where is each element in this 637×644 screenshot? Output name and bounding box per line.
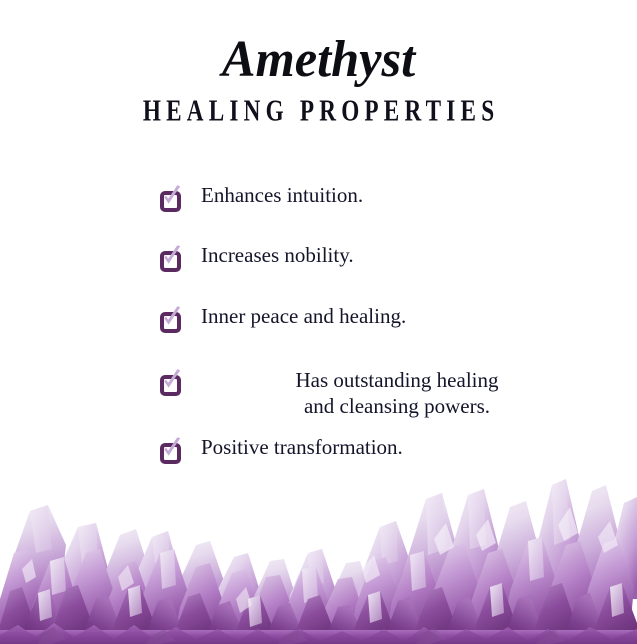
list-item[interactable]: Has outstanding healing and cleansing po…	[158, 367, 598, 419]
list-item[interactable]: Increases nobility.	[158, 243, 598, 273]
checkbox-checked-icon[interactable]	[158, 308, 182, 334]
list-item-label: Has outstanding healing and cleansing po…	[182, 367, 598, 419]
amethyst-infographic-card: Amethyst HEALING PROPERTIES Enhances int…	[0, 0, 637, 644]
checkbox-checked-icon[interactable]	[158, 371, 182, 397]
checkbox-box	[160, 191, 181, 212]
checkbox-box	[160, 251, 181, 272]
list-item-label: Enhances intuition.	[182, 183, 598, 208]
header-block: Amethyst HEALING PROPERTIES	[0, 0, 637, 126]
crystal-cluster-graphic	[0, 449, 637, 644]
list-item[interactable]: Enhances intuition.	[158, 183, 598, 213]
checkbox-box	[160, 375, 181, 396]
list-item[interactable]: Inner peace and healing.	[158, 304, 598, 334]
checkbox-box	[160, 312, 181, 333]
list-item-label: Increases nobility.	[182, 243, 598, 268]
checkbox-checked-icon[interactable]	[158, 247, 182, 273]
page-title: Amethyst	[10, 34, 628, 86]
amethyst-crystal-image	[0, 449, 637, 644]
healing-properties-list: Enhances intuition. Increases nobility. …	[158, 183, 598, 465]
page-subtitle: HEALING PROPERTIES	[64, 96, 574, 127]
list-item-label: Inner peace and healing.	[182, 304, 598, 329]
checkbox-checked-icon[interactable]	[158, 187, 182, 213]
